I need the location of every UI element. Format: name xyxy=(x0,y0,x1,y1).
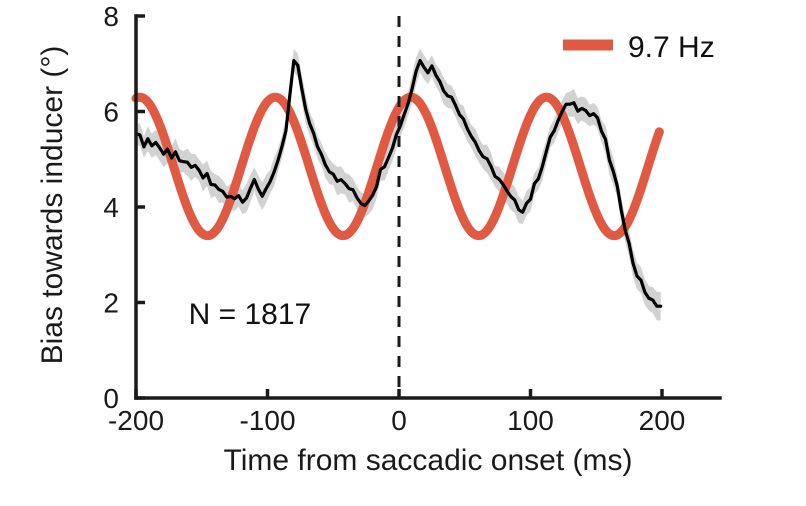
x-axis-tick-labels: -200-1000100200 xyxy=(108,405,685,436)
x-axis-title: Time from saccadic onset (ms) xyxy=(224,444,633,477)
x-tick-label: 100 xyxy=(507,405,554,436)
legend-label-9-7-hz: 9.7 Hz xyxy=(628,31,715,64)
y-tick-label: 8 xyxy=(103,1,119,32)
figure-panel: 02468 -200-1000100200 Time from saccadic… xyxy=(0,0,806,506)
x-tick-label: -200 xyxy=(108,405,164,436)
x-tick-label: 0 xyxy=(391,405,407,436)
sample-size-annotation: N = 1817 xyxy=(189,298,312,331)
chart-canvas: 02468 -200-1000100200 Time from saccadic… xyxy=(0,0,806,506)
y-tick-label: 6 xyxy=(103,97,119,128)
y-axis-tick-labels: 02468 xyxy=(103,1,119,414)
x-tick-label: -100 xyxy=(239,405,295,436)
x-tick-label: 200 xyxy=(639,405,686,436)
legend: 9.7 Hz xyxy=(563,31,715,64)
y-tick-label: 2 xyxy=(103,288,119,319)
y-axis-title: Bias towards inducer (°) xyxy=(36,46,69,365)
y-tick-label: 4 xyxy=(103,192,119,223)
